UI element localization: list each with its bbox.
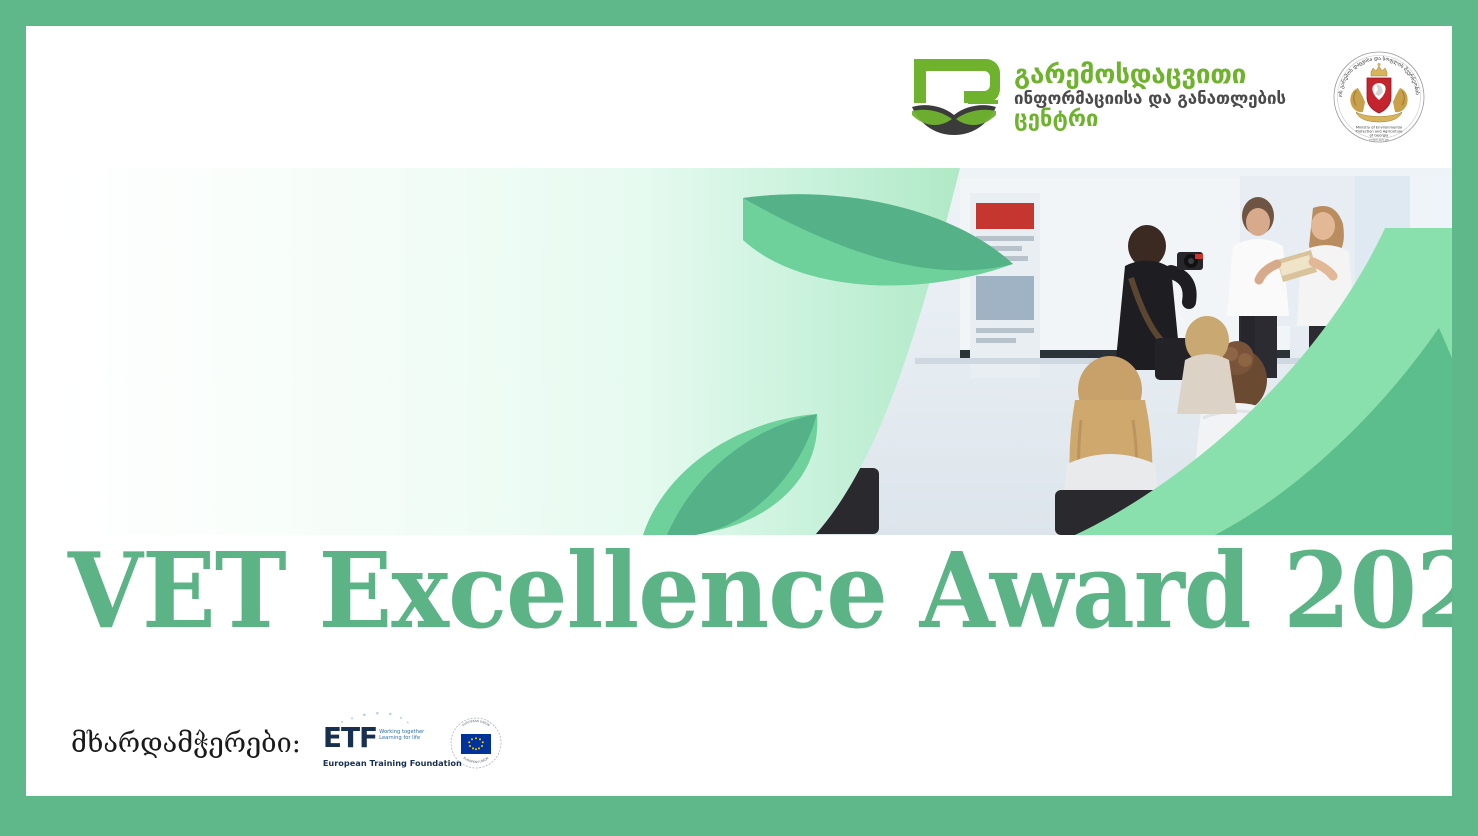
etf-acronym: ETF	[323, 724, 377, 752]
ministry-caption-4: mepa.gov.ge	[1369, 137, 1389, 141]
etf-logo-icon: ETF Working together Learning for life E…	[323, 712, 427, 774]
title-section: VET Excellence Award 2022	[26, 535, 1452, 685]
poster-page: გარემოსდაცვითი ინფორმაციისა და განათლები…	[26, 26, 1452, 796]
eiec-line1: გარემოსდაცვითი	[1014, 62, 1286, 89]
supporters-label: მხარდამჭერები:	[71, 728, 301, 759]
header: გარემოსდაცვითი ინფორმაციისა და განათლები…	[26, 26, 1452, 168]
etf-full-name: European Training Foundation	[323, 758, 462, 768]
etf-tagline: Working together Learning for life	[379, 729, 424, 742]
etf-tagline-line2: Learning for life	[379, 735, 420, 741]
book-leaf-logo-icon	[908, 55, 1004, 139]
eiec-line2: ინფორმაციისა და განათლების	[1014, 91, 1286, 108]
page-title: VET Excellence Award 2022	[26, 535, 1352, 647]
supporters-row: მხარდამჭერები: ETF	[71, 712, 503, 774]
poster-frame: გარემოსდაცვითი ინფორმაციისა და განათლები…	[0, 0, 1478, 836]
hero-banner-graphic	[55, 168, 1452, 535]
eiec-line3: ცენტრი	[1014, 109, 1286, 131]
hero-banner	[55, 168, 1452, 535]
etf-wordmark: ETF Working together Learning for life	[323, 724, 425, 752]
georgia-ministry-seal-icon: საქართველოს გარემოს დაცვისა და სოფლის მე…	[1332, 50, 1426, 144]
eiec-logo-text: გარემოსდაცვითი ინფორმაციისა და განათლები…	[1014, 62, 1286, 131]
etf-tagline-line1: Working together	[379, 729, 424, 735]
eiec-logo: გარემოსდაცვითი ინფორმაციისა და განათლები…	[908, 55, 1286, 139]
